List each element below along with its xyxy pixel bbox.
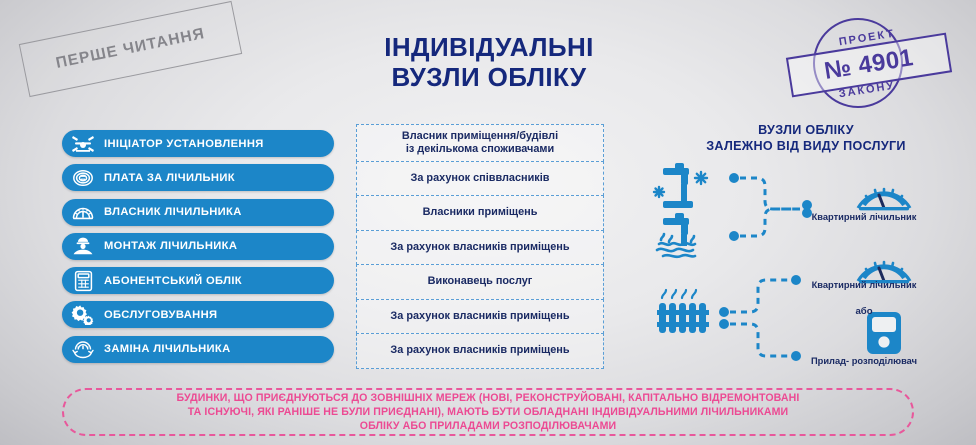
law-project-stamp: ПРОЕКТ ЗАКОНУ № 4901 xyxy=(782,12,952,110)
criteria-pill-7[interactable]: ЗАМІНА ЛІЧИЛЬНИКА xyxy=(62,336,334,363)
criteria-pill-label: АБОНЕНТСЬКИЙ ОБЛІК xyxy=(104,275,242,287)
first-reading-stamp: ПЕРШЕ ЧИТАННЯ xyxy=(19,1,242,97)
answer-row-3: Власники приміщень xyxy=(356,195,604,231)
criteria-pill-3[interactable]: ВЛАСНИК ЛІЧИЛЬНИКА xyxy=(62,199,334,226)
caption-allocator-line2: розподілювач xyxy=(852,356,917,366)
criteria-pill-label: ЗАМІНА ЛІЧИЛЬНИКА xyxy=(104,343,231,355)
answer-row-1: Власник приміщення/будівлііз декількома … xyxy=(356,124,604,162)
gears-icon xyxy=(62,301,104,328)
caption-allocator: Прилад- розподілювач xyxy=(795,356,933,367)
caption-water-line2: лічильник xyxy=(869,212,916,222)
criteria-pill-1[interactable]: ІНІЦІАТОР УСТАНОВЛЕННЯ xyxy=(62,130,334,157)
criteria-pill-label: ВЛАСНИК ЛІЧИЛЬНИКА xyxy=(104,206,242,218)
right-section-title-line2: ЗАЛЕЖНО ВІД ВИДУ ПОСЛУГИ xyxy=(645,138,967,154)
answer-row-line1: Власник приміщення/будівлі xyxy=(402,130,558,143)
answer-row-4: За рахунок власників приміщень xyxy=(356,230,604,265)
answers-column: Власник приміщення/будівлііз декількома … xyxy=(356,124,604,368)
hot-water-tap-icon xyxy=(657,213,695,257)
caption-or: або xyxy=(805,306,923,318)
criteria-pill-label: ОБСЛУГОВУВАННЯ xyxy=(104,309,217,321)
heat-connector-lines xyxy=(719,275,801,361)
calculator-icon xyxy=(62,267,104,294)
caption-water-line1: Квартирний xyxy=(812,212,867,222)
gauge-meter-icon-water xyxy=(858,189,910,210)
criteria-pill-2[interactable]: ПЛАТА ЗА ЛІЧИЛЬНИК xyxy=(62,164,334,191)
bottom-note-line3: ОБЛІКУ АБО ПРИЛАДАМИ РОЗПОДІЛЮВАЧАМИ xyxy=(177,419,800,433)
bottom-note-banner: БУДИНКИ, ЩО ПРИЄДНУЮТЬСЯ ДО ЗОВНІШНІХ МЕ… xyxy=(62,388,914,436)
bottom-note-line1: БУДИНКИ, ЩО ПРИЄДНУЮТЬСЯ ДО ЗОВНІШНІХ МЕ… xyxy=(177,391,800,405)
caption-apartment-meter-water: Квартирний лічильник xyxy=(805,212,923,223)
caption-apartment-meter-heat: Квартирний лічильник xyxy=(805,280,923,291)
answer-row-line1: За рахунок власників приміщень xyxy=(390,310,569,323)
service-type-diagram: Квартирний лічильник Квартирний лічильни… xyxy=(645,160,971,375)
network-nodes-icon xyxy=(62,130,104,157)
answer-row-line2: із декількома споживачами xyxy=(402,143,558,156)
meter-replace-icon xyxy=(62,336,104,363)
first-reading-stamp-label: ПЕРШЕ ЧИТАННЯ xyxy=(54,25,206,73)
worker-icon xyxy=(62,233,104,260)
bottom-note-text: БУДИНКИ, ЩО ПРИЄДНУЮТЬСЯ ДО ЗОВНІШНІХ МЕ… xyxy=(177,391,800,434)
caption-allocator-line1: Прилад- xyxy=(811,356,849,366)
stamp-number-label: № 4901 xyxy=(822,44,915,86)
answer-row-line1: За рахунок власників приміщень xyxy=(390,344,569,357)
answer-row-2: За рахунок співвласників xyxy=(356,161,604,196)
criteria-pill-label: МОНТАЖ ЛІЧИЛЬНИКА xyxy=(104,240,237,252)
gauge-icon xyxy=(62,199,104,226)
water-connector-lines xyxy=(729,173,812,241)
criteria-pill-label: ІНІЦІАТОР УСТАНОВЛЕННЯ xyxy=(104,138,264,150)
answer-row-line1: Власники приміщень xyxy=(423,206,538,219)
answer-row-line1: За рахунок співвласників xyxy=(411,172,550,185)
page-title-line2: ВУЗЛИ ОБЛІКУ xyxy=(330,62,648,92)
criteria-pill-4[interactable]: МОНТАЖ ЛІЧИЛЬНИКА xyxy=(62,233,334,260)
radiator-icon xyxy=(657,290,709,333)
right-section-title: ВУЗЛИ ОБЛІКУ ЗАЛЕЖНО ВІД ВИДУ ПОСЛУГИ xyxy=(645,122,967,155)
criteria-pill-6[interactable]: ОБСЛУГОВУВАННЯ xyxy=(62,301,334,328)
infographic-canvas: ПЕРШЕ ЧИТАННЯ ІНДИВІДУАЛЬНІ ВУЗЛИ ОБЛІКУ… xyxy=(0,0,976,445)
answer-row-7: За рахунок власників приміщень xyxy=(356,333,604,369)
criteria-pill-label: ПЛАТА ЗА ЛІЧИЛЬНИК xyxy=(104,172,235,184)
criteria-pill-5[interactable]: АБОНЕНТСЬКИЙ ОБЛІК xyxy=(62,267,334,294)
answer-row-5: Виконавець послуг xyxy=(356,264,604,300)
criteria-pill-list: ІНІЦІАТОР УСТАНОВЛЕННЯПЛАТА ЗА ЛІЧИЛЬНИК… xyxy=(62,130,334,370)
hryvnia-coin-icon xyxy=(62,164,104,191)
heat-allocator-icon xyxy=(867,312,901,354)
page-title-line1: ІНДИВІДУАЛЬНІ xyxy=(330,32,648,62)
answer-row-line1: За рахунок власників приміщень xyxy=(390,241,569,254)
cold-water-tap-icon xyxy=(654,163,707,208)
answer-row-line1: Виконавець послуг xyxy=(428,275,533,288)
caption-heat-line2: лічильник xyxy=(869,280,916,290)
bottom-note-line2: ТА ІСНУЮЧІ, ЯКІ РАНІШЕ НЕ БУЛИ ПРИЄДНАНІ… xyxy=(177,405,800,419)
right-section-title-line1: ВУЗЛИ ОБЛІКУ xyxy=(645,122,967,138)
answer-row-6: За рахунок власників приміщень xyxy=(356,299,604,334)
page-title: ІНДИВІДУАЛЬНІ ВУЗЛИ ОБЛІКУ xyxy=(330,32,648,92)
caption-heat-line1: Квартирний xyxy=(812,280,867,290)
